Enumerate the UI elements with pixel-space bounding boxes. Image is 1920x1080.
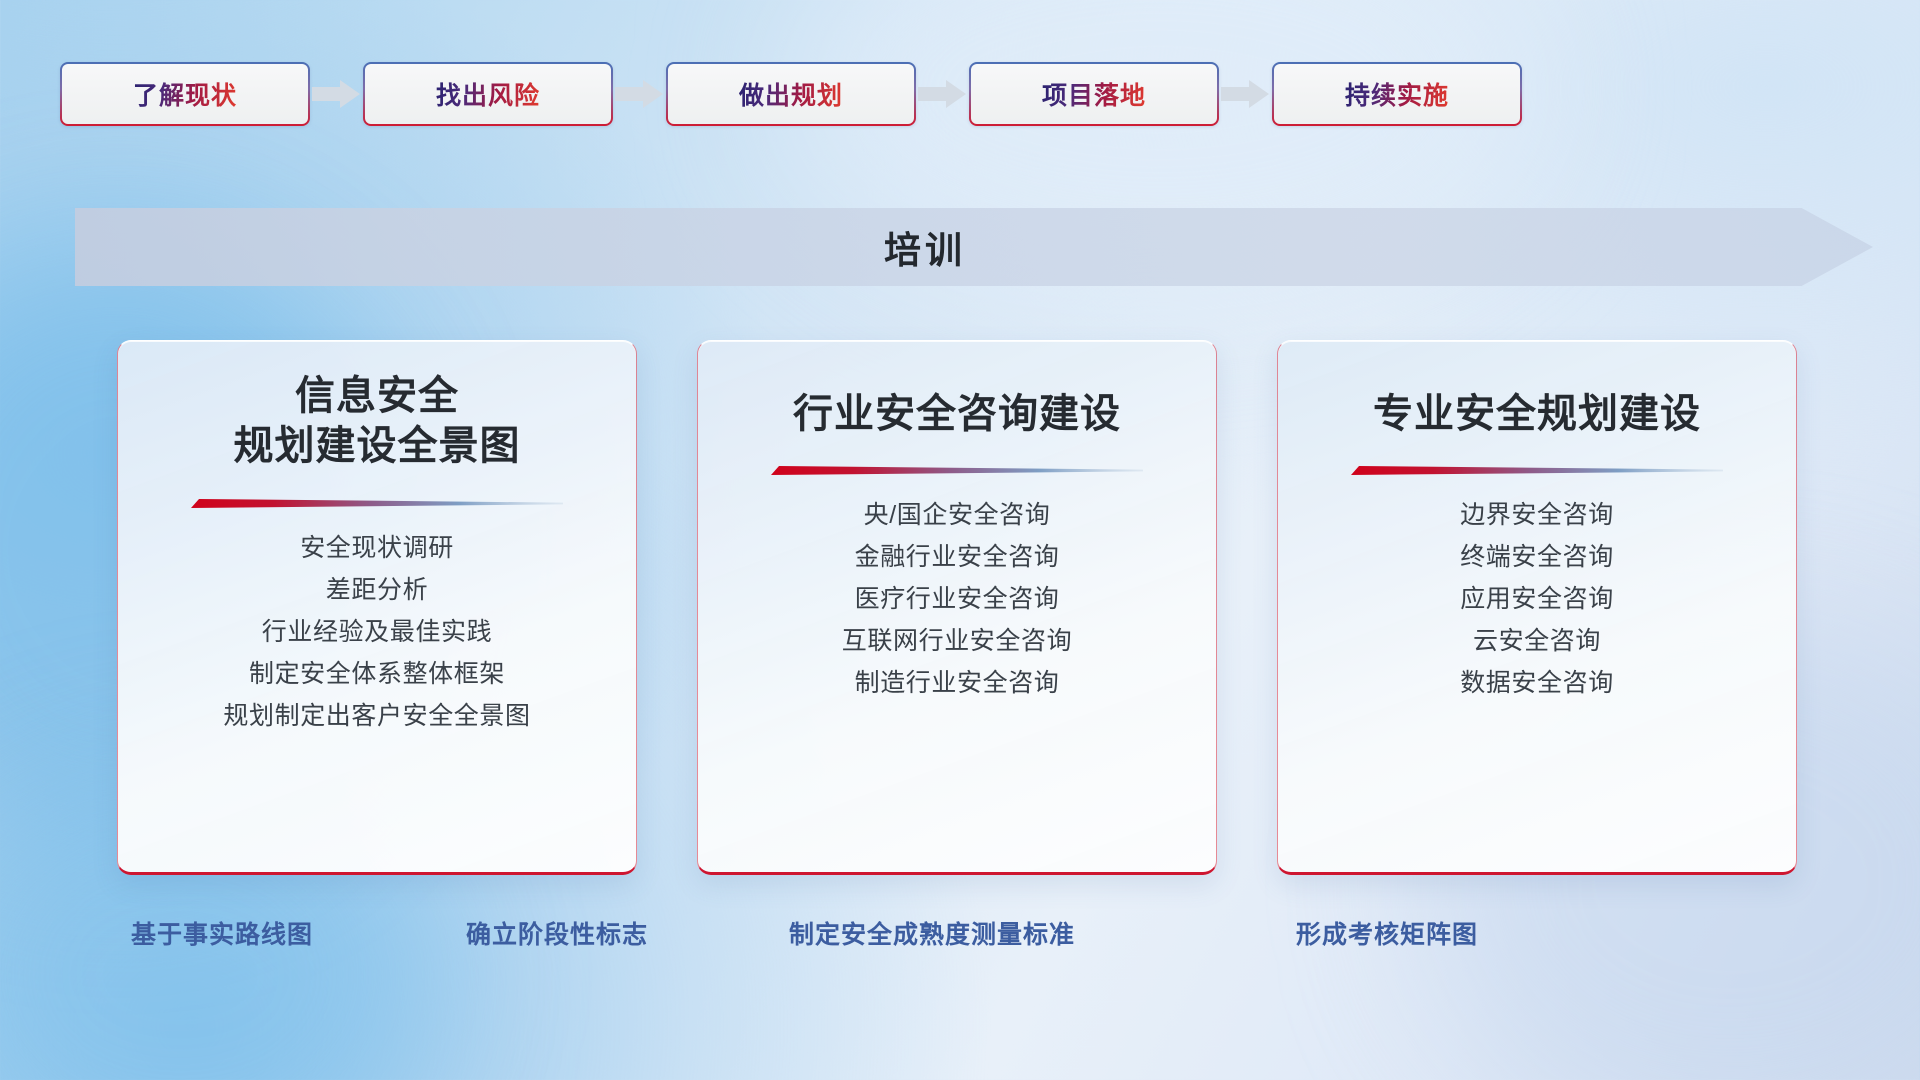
chevron-arrow-icon-4	[1219, 79, 1272, 109]
card-industry-security-consulting[interactable]: 行业安全咨询建设 央/国企安全咨询 金融行业安全咨询 医疗行业安全咨询 互联网行…	[697, 340, 1217, 875]
card-divider-1	[191, 494, 563, 512]
list-item: 行业经验及最佳实践	[262, 620, 492, 645]
step-label-5: 持续实施	[1345, 76, 1449, 112]
list-item: 制造行业安全咨询	[855, 671, 1060, 696]
card-divider-2	[771, 461, 1143, 479]
step-box-3-inner: 做出规划	[668, 64, 914, 124]
caption-maturity-standard: 制定安全成熟度测量标准	[789, 915, 1075, 951]
card-title-1: 信息安全 规划建设全景图	[234, 371, 521, 472]
caption-fact-roadmap: 基于事实路线图	[131, 915, 313, 951]
list-item: 终端安全咨询	[1460, 545, 1614, 570]
caption-assessment-matrix: 形成考核矩阵图	[1296, 915, 1478, 951]
step-box-4[interactable]: 项目落地	[969, 62, 1219, 126]
chevron-arrow-icon-2	[613, 79, 666, 109]
list-item: 数据安全咨询	[1460, 671, 1614, 696]
card-title-2: 行业安全咨询建设	[793, 389, 1121, 439]
list-item: 安全现状调研	[300, 536, 454, 561]
list-item: 央/国企安全咨询	[864, 503, 1051, 528]
card-information-security-blueprint[interactable]: 信息安全 规划建设全景图 安全现状调研 差距分析 行业经验及最佳实践 制定安全体…	[117, 340, 637, 875]
step-label-3: 做出规划	[739, 76, 843, 112]
list-item: 互联网行业安全咨询	[842, 629, 1072, 654]
step-box-1[interactable]: 了解现状	[60, 62, 310, 126]
step-label-2: 找出风险	[436, 76, 540, 112]
banner-label: 培训	[75, 208, 1775, 286]
list-item: 医疗行业安全咨询	[855, 587, 1060, 612]
list-item: 应用安全咨询	[1460, 587, 1614, 612]
list-item: 边界安全咨询	[1460, 503, 1614, 528]
step-box-2-inner: 找出风险	[365, 64, 611, 124]
step-box-1-inner: 了解现状	[62, 64, 308, 124]
chevron-arrow-icon-3	[916, 79, 969, 109]
list-item: 差距分析	[326, 578, 428, 603]
card-row: 信息安全 规划建设全景图 安全现状调研 差距分析 行业经验及最佳实践 制定安全体…	[117, 340, 1797, 875]
card-list-3: 边界安全咨询 终端安全咨询 应用安全咨询 云安全咨询 数据安全咨询	[1460, 503, 1614, 713]
card-list-2: 央/国企安全咨询 金融行业安全咨询 医疗行业安全咨询 互联网行业安全咨询 制造行…	[842, 503, 1072, 713]
caption-row: 基于事实路线图 确立阶段性标志 制定安全成熟度测量标准 形成考核矩阵图	[0, 915, 1920, 961]
step-box-2[interactable]: 找出风险	[363, 62, 613, 126]
list-item: 制定安全体系整体框架	[249, 662, 505, 687]
training-banner: 培训	[75, 208, 1873, 286]
card-list-1: 安全现状调研 差距分析 行业经验及最佳实践 制定安全体系整体框架 规划制定出客户…	[223, 536, 530, 746]
list-item: 规划制定出客户安全全景图	[223, 704, 530, 729]
card-professional-security-planning[interactable]: 专业安全规划建设 边界安全咨询 终端安全咨询 应用安全咨询 云安全咨询 数据安全…	[1277, 340, 1797, 875]
process-step-row: 了解现状 找出风险 做出规划 项目落地 持续实施	[0, 62, 1920, 126]
step-label-4: 项目落地	[1042, 76, 1146, 112]
card-title-3: 专业安全规划建设	[1373, 389, 1701, 439]
step-box-4-inner: 项目落地	[971, 64, 1217, 124]
step-label-1: 了解现状	[133, 76, 237, 112]
caption-stage-milestone: 确立阶段性标志	[466, 915, 648, 951]
list-item: 金融行业安全咨询	[855, 545, 1060, 570]
card-divider-3	[1351, 461, 1723, 479]
list-item: 云安全咨询	[1473, 629, 1601, 654]
chevron-arrow-icon-1	[310, 79, 363, 109]
step-box-5[interactable]: 持续实施	[1272, 62, 1522, 126]
step-box-3[interactable]: 做出规划	[666, 62, 916, 126]
step-box-5-inner: 持续实施	[1274, 64, 1520, 124]
